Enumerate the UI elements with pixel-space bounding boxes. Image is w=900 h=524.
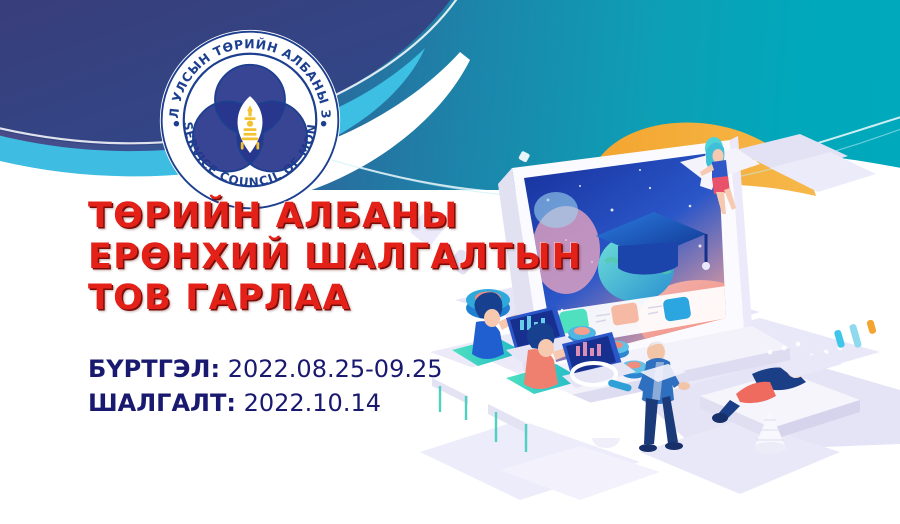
decor-dot [518,151,530,163]
headline: ТӨРИЙН АЛБАНЫ ЕРӨНХИЙ ШАЛГАЛТЫН ТОВ ГАРЛ… [88,196,568,319]
civil-service-council-emblem: МОНГОЛ УЛСЫН ТӨРИЙН АЛБАНЫ ЗӨВЛӨЛ CIVIL … [158,28,342,212]
registration-value: 2022.08.25-09.25 [228,355,443,383]
headline-line-2: ЕРӨНХИЙ ШАЛГАЛТЫН [88,237,568,278]
exam-value: 2022.10.14 [244,389,381,417]
exam-label: ШАЛГАЛТ: [88,389,236,417]
poster-canvas: МОНГОЛ УЛСЫН ТӨРИЙН АЛБАНЫ ЗӨВЛӨЛ CIVIL … [0,0,900,524]
registration-row: БҮРТГЭЛ: 2022.08.25-09.25 [88,352,508,386]
exam-row: ШАЛГАЛТ: 2022.10.14 [88,386,508,420]
registration-label: БҮРТГЭЛ: [88,355,220,383]
dates-block: БҮРТГЭЛ: 2022.08.25-09.25 ШАЛГАЛТ: 2022.… [88,352,508,420]
headline-line-1: ТӨРИЙН АЛБАНЫ [88,196,568,237]
headline-line-3: ТОВ ГАРЛАА [88,278,568,319]
